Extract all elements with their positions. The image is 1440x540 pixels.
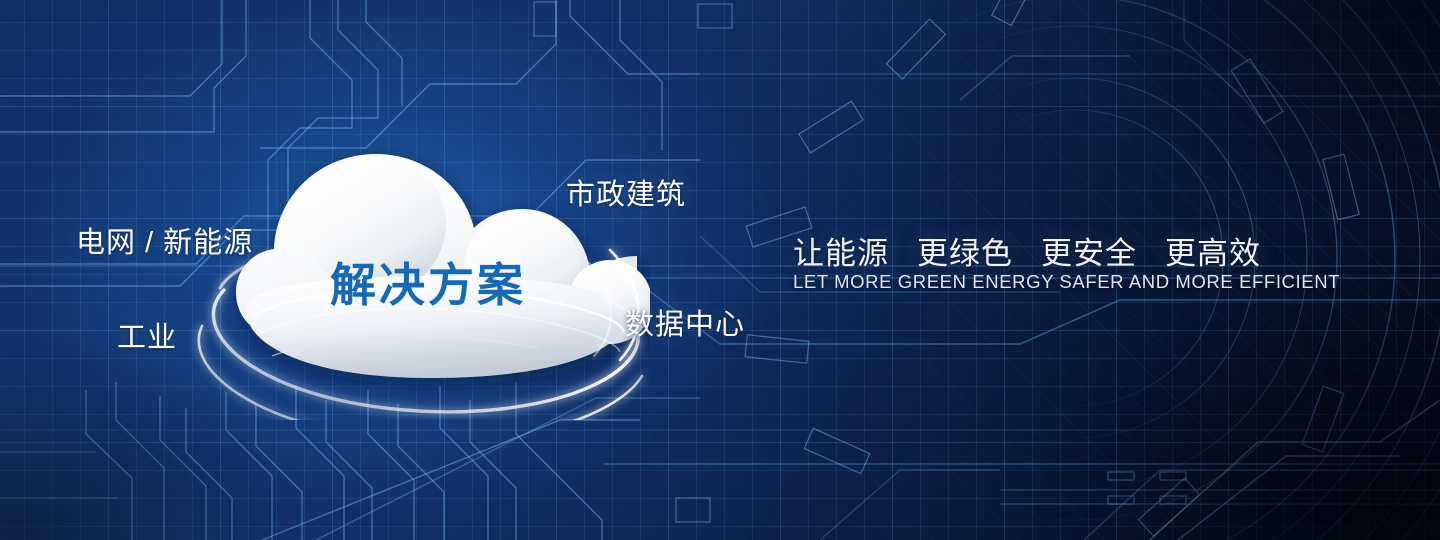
tagline-segment-4: 更高效 xyxy=(1165,236,1261,271)
node-label-industry: 工业 xyxy=(117,314,177,356)
tagline-segment-1: 让能源 xyxy=(793,236,889,271)
solution-banner: 电网 / 新能源 工业 市政建筑 数据中心 解决方案 让能源更绿色更安全更高效 … xyxy=(0,0,1440,540)
tagline-segment-2: 更绿色 xyxy=(917,236,1013,271)
headline-solution: 解决方案 xyxy=(330,249,526,315)
tagline-segment-3: 更安全 xyxy=(1041,236,1137,271)
node-label-grid-new-energy: 电网 / 新能源 xyxy=(76,219,253,261)
tagline-english: LET MORE GREEN ENERGY SAFER AND MORE EFF… xyxy=(793,271,1340,293)
tagline-chinese: 让能源更绿色更安全更高效 xyxy=(793,228,1261,273)
node-label-data-center: 数据中心 xyxy=(625,301,745,343)
node-label-municipal-building: 市政建筑 xyxy=(566,171,686,213)
